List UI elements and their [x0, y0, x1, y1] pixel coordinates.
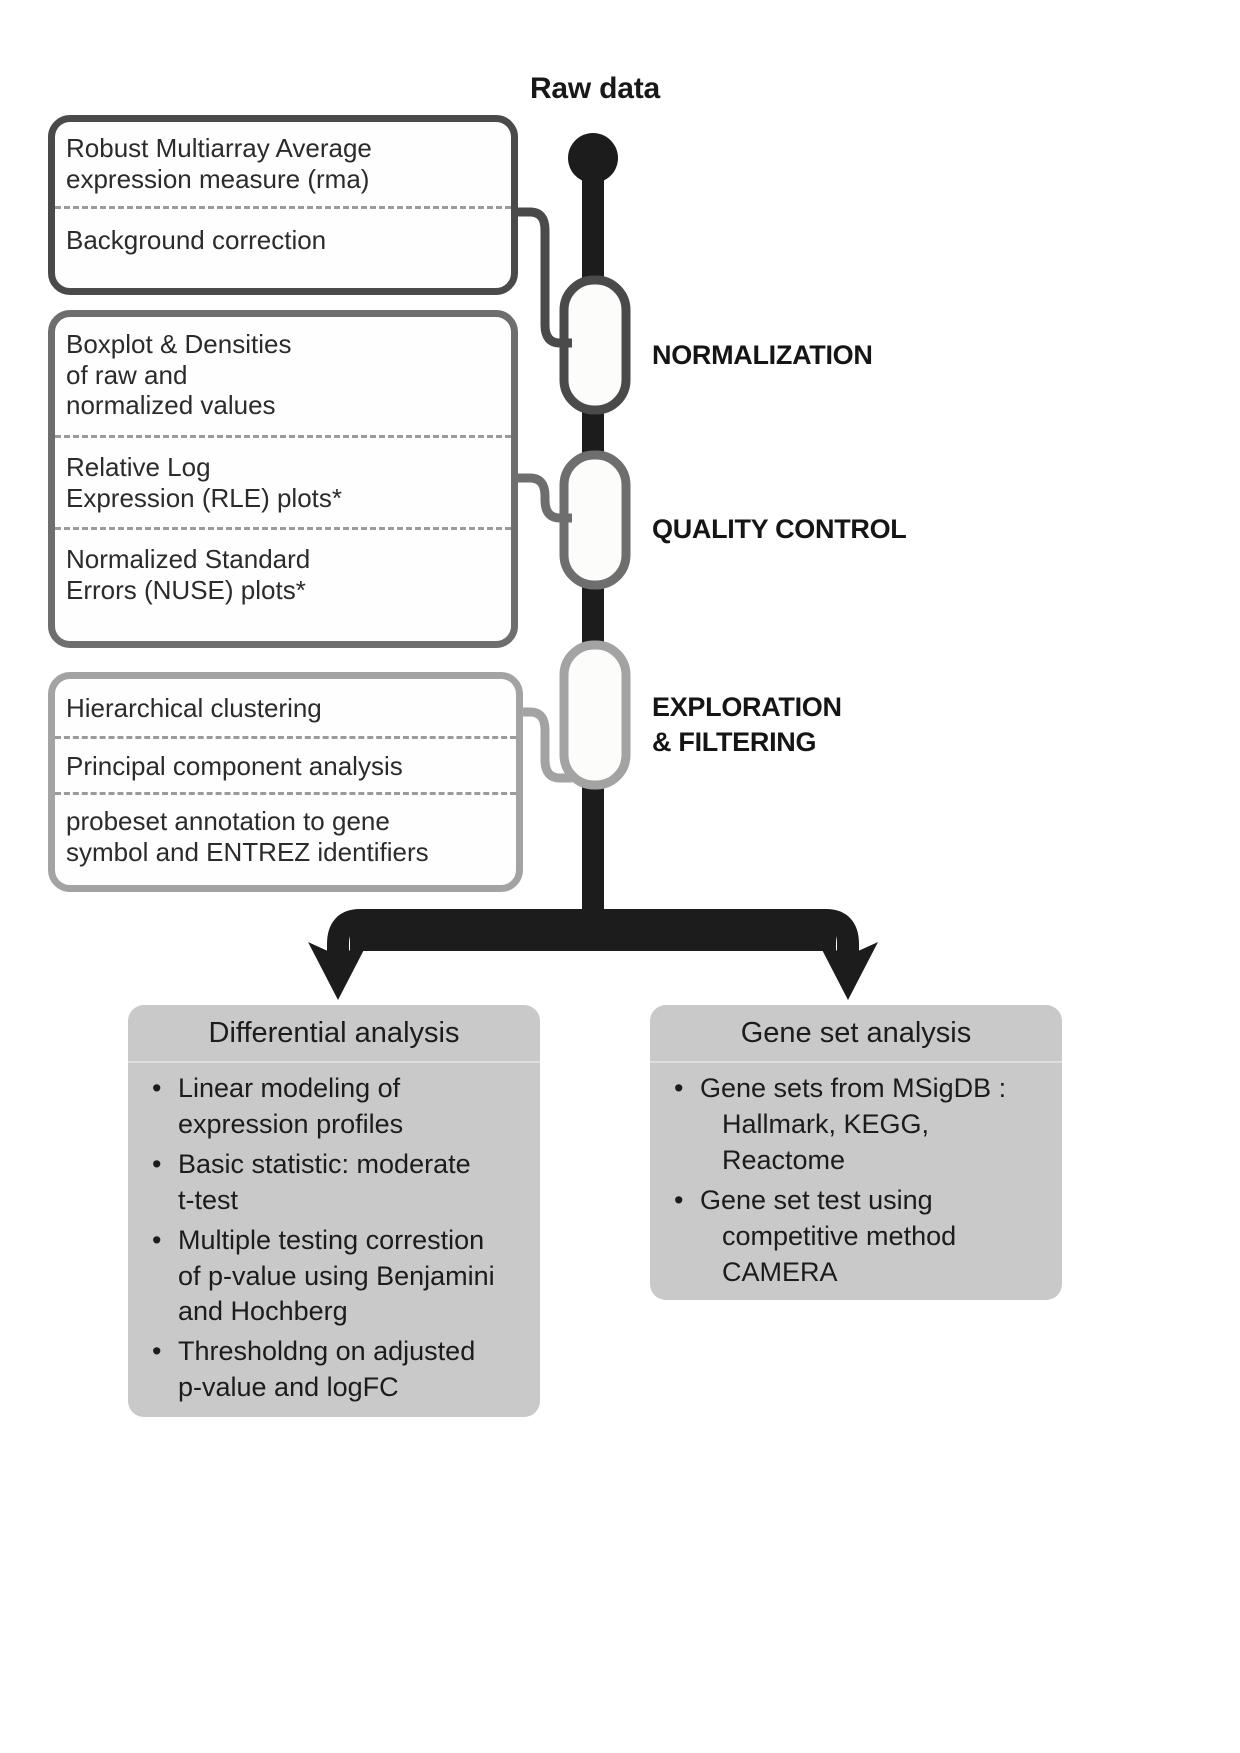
list-item: • Gene sets from MSigDB :Hallmark, KEGG,…: [674, 1071, 1048, 1179]
panel-bullet-list: • Gene sets from MSigDB :Hallmark, KEGG,…: [650, 1063, 1062, 1300]
stage-capsule-exploration-filtering[interactable]: [564, 645, 626, 785]
detail-row-text: Principal component analysis: [66, 751, 403, 781]
stage-label-normalization: NORMALIZATION: [652, 338, 873, 373]
detail-row-text: Robust Multiarray Averageexpression meas…: [66, 133, 372, 194]
bullet-icon: •: [674, 1183, 683, 1219]
stage-detail-box-normalization[interactable]: Robust Multiarray Averageexpression meas…: [48, 115, 518, 295]
stage-detail-box-quality-control[interactable]: Boxplot & Densitiesof raw andnormalized …: [48, 310, 518, 648]
list-item: • Multiple testing correstionof p-value …: [152, 1223, 526, 1331]
bullet-icon: •: [674, 1071, 683, 1107]
detail-row-text: Hierarchical clustering: [66, 693, 322, 723]
list-item: • Linear modeling ofexpression profiles: [152, 1071, 526, 1143]
detail-row: Robust Multiarray Averageexpression meas…: [55, 122, 511, 206]
list-item-text: Gene set test usingcompetitive methodCAM…: [700, 1185, 956, 1287]
detail-row-text: Normalized StandardErrors (NUSE) plots*: [66, 544, 310, 605]
stage-capsule-quality-control[interactable]: [564, 455, 626, 585]
detail-row-text: Boxplot & Densitiesof raw andnormalized …: [66, 329, 291, 420]
detail-row: Background correction: [55, 206, 511, 270]
list-item-text: Multiple testing correstionof p-value us…: [178, 1225, 495, 1327]
detail-row: Hierarchical clustering: [55, 679, 516, 736]
stage-detail-box-exploration-filtering[interactable]: Hierarchical clustering Principal compon…: [48, 672, 523, 892]
detail-row: Relative LogExpression (RLE) plots*: [55, 435, 511, 527]
page-title: Raw data: [455, 72, 735, 106]
detail-row-text: Background correction: [66, 225, 326, 255]
list-item-text: Thresholdng on adjustedp-value and logFC: [178, 1336, 475, 1402]
output-panel-gene-set-analysis[interactable]: Gene set analysis • Gene sets from MSigD…: [650, 1005, 1062, 1300]
bullet-icon: •: [152, 1223, 161, 1259]
panel-title: Gene set analysis: [650, 1005, 1062, 1063]
list-item-text: Linear modeling ofexpression profiles: [178, 1073, 403, 1139]
list-item: • Gene set test usingcompetitive methodC…: [674, 1183, 1048, 1291]
bullet-icon: •: [152, 1071, 161, 1107]
stage-label-exploration-filtering: EXPLORATION& FILTERING: [652, 690, 842, 759]
detail-row-text: probeset annotation to genesymbol and EN…: [66, 806, 429, 867]
output-panel-differential-analysis[interactable]: Differential analysis • Linear modeling …: [128, 1005, 540, 1417]
list-item-text: Gene sets from MSigDB :Hallmark, KEGG,Re…: [700, 1073, 1006, 1175]
detail-row: probeset annotation to genesymbol and EN…: [55, 792, 516, 879]
list-item-text: Basic statistic: moderatet-test: [178, 1149, 471, 1215]
raw-data-node: [568, 133, 618, 183]
stage-capsule-normalization[interactable]: [564, 280, 626, 410]
panel-bullet-list: • Linear modeling ofexpression profiles …: [128, 1063, 540, 1417]
detail-row-text: Relative LogExpression (RLE) plots*: [66, 452, 342, 513]
flowchart-canvas: Raw data Robust Multiarray Averageexpres…: [0, 0, 1240, 1753]
bullet-icon: •: [152, 1147, 161, 1183]
detail-row: Boxplot & Densitiesof raw andnormalized …: [55, 317, 511, 435]
detail-row: Normalized StandardErrors (NUSE) plots*: [55, 527, 511, 617]
list-item: • Basic statistic: moderatet-test: [152, 1147, 526, 1219]
list-item: • Thresholdng on adjustedp-value and log…: [152, 1334, 526, 1406]
bullet-icon: •: [152, 1334, 161, 1370]
detail-row: Principal component analysis: [55, 736, 516, 793]
panel-title: Differential analysis: [128, 1005, 540, 1063]
stage-label-quality-control: QUALITY CONTROL: [652, 512, 907, 547]
